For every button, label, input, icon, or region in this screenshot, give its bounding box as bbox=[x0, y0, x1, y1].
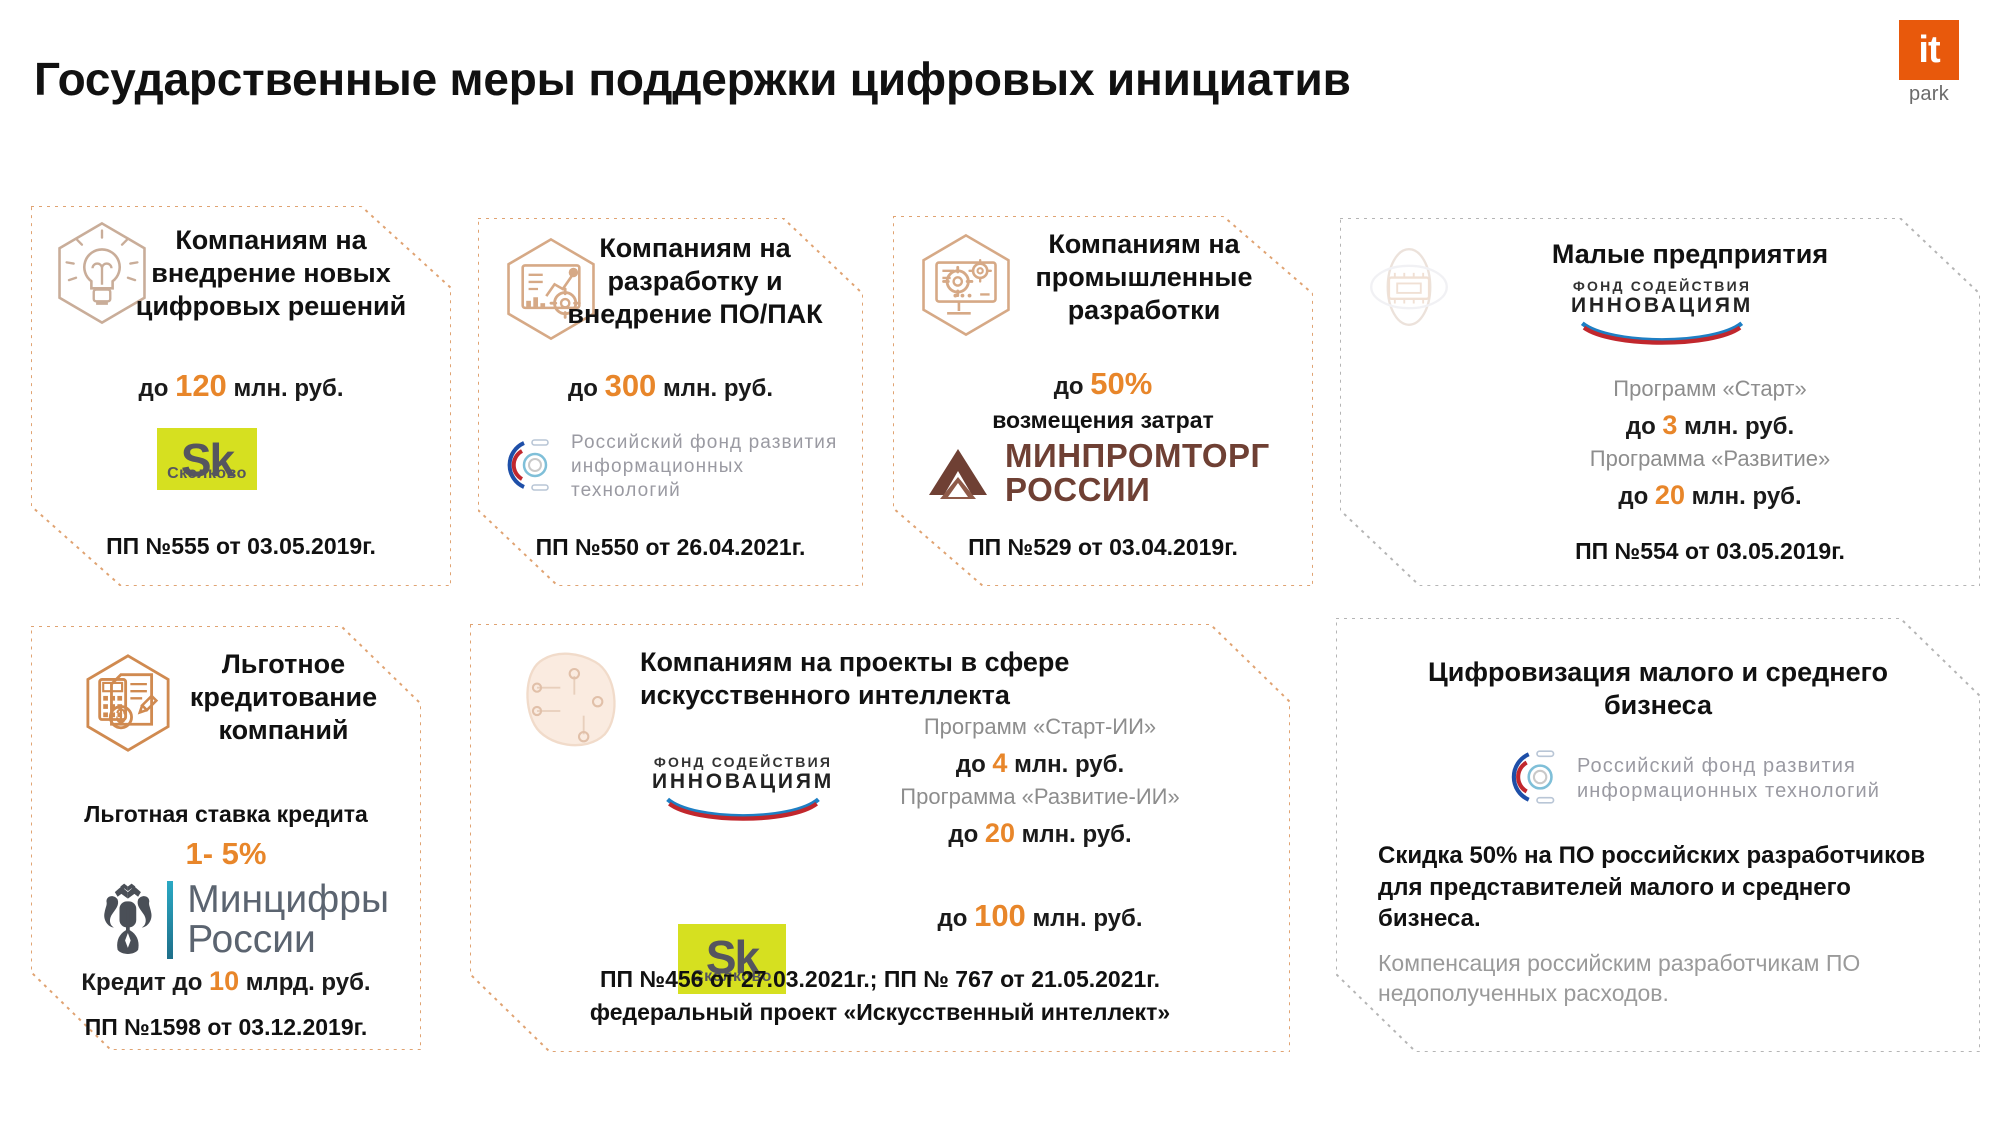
credit-suffix: млрд. руб. bbox=[246, 969, 371, 996]
card-preferential-lending[interactable]: Льготное кредитование компаний Льготная … bbox=[31, 626, 421, 1050]
card-title: Компаниям на проекты в сфере искусственн… bbox=[640, 646, 1170, 712]
minpromtorg-line1: МИНПРОМТОРГ bbox=[1005, 439, 1270, 473]
card-digital-solutions[interactable]: Компаниям на внедрение новых цифровых ре… bbox=[31, 206, 451, 586]
fsi-logo: ФОНД СОДЕЙСТВИЯ ИННОВАЦИЯМ bbox=[648, 754, 838, 824]
program-label-start-ai: Программ «Старт-ИИ» bbox=[830, 714, 1250, 740]
program-amount-start: до 3 млн. руб. bbox=[1480, 408, 1940, 443]
program-amount-razvitie: до 20 млн. руб. bbox=[1480, 478, 1940, 513]
card-body-text: Скидка 50% на ПО российских разработчико… bbox=[1378, 840, 1938, 935]
fsi-logo-swoosh bbox=[1562, 319, 1762, 345]
card-software-dev[interactable]: Компаниям на разработку и внедрение ПО/П… bbox=[478, 218, 863, 586]
atom-chip-hex-icon bbox=[1350, 228, 1468, 346]
program-label-start: Программ «Старт» bbox=[1480, 376, 1940, 402]
amount-value: 4 bbox=[992, 748, 1007, 778]
amount-value: 120 bbox=[175, 368, 227, 403]
card-title: Льготное кредитование компаний bbox=[166, 648, 401, 747]
big-amount: до 100 млн. руб. bbox=[830, 896, 1250, 936]
amount-suffix: млн. руб. bbox=[1014, 751, 1124, 778]
fsi-logo-line1: ФОНД СОДЕЙСТВИЯ bbox=[648, 754, 838, 770]
minpromtorg-line2: РОССИИ bbox=[1005, 473, 1270, 507]
amount-prefix: до bbox=[139, 375, 169, 402]
rfrit-logo-line1: Российский фонд развития bbox=[571, 431, 842, 455]
card-amount: до 50% bbox=[893, 364, 1313, 404]
amount-prefix: до bbox=[1618, 483, 1648, 510]
card-title: Компаниям на внедрение новых цифровых ре… bbox=[101, 224, 441, 323]
amount-value: 50% bbox=[1090, 366, 1152, 401]
card-footnote-line1: ПП №456 от 27.03.2021г.; ПП № 767 от 21.… bbox=[470, 964, 1290, 995]
amount-value: 300 bbox=[605, 368, 657, 403]
card-footnote-line2: федеральный проект «Искусственный интелл… bbox=[470, 997, 1290, 1028]
card-title: Компаниям на промышленные разработки bbox=[985, 228, 1303, 327]
card-title: Цифровизация малого и среднего бизнеса bbox=[1396, 656, 1920, 722]
fsi-logo-line2: ИННОВАЦИЯМ bbox=[648, 770, 838, 793]
amount-suffix: млн. руб. bbox=[1022, 821, 1132, 848]
card-amount: до 120 млн. руб. bbox=[31, 366, 451, 406]
card-title: Малые предприятия bbox=[1480, 238, 1900, 271]
itpark-logo-park-text: park bbox=[1892, 83, 1966, 106]
program-label-razvitie-ai: Программа «Развитие-ИИ» bbox=[830, 784, 1250, 810]
card-title: Компаниям на разработку и внедрение ПО/П… bbox=[534, 232, 856, 331]
fsi-logo: ФОНД СОДЕЙСТВИЯ ИННОВАЦИЯМ bbox=[1562, 278, 1762, 348]
card-footnote: ПП №550 от 26.04.2021г. bbox=[478, 532, 863, 563]
rate-value: 1- 5% bbox=[31, 834, 421, 874]
credit-amount: Кредит до 10 млрд. руб. bbox=[31, 964, 421, 999]
mincifry-logo: Минцифры России bbox=[99, 878, 389, 962]
mincifry-logo-text: Минцифры России bbox=[187, 880, 389, 960]
card-industrial-dev[interactable]: Компаниям на промышленные разработки до … bbox=[893, 216, 1313, 586]
rfrit-logo-mark bbox=[1506, 746, 1568, 813]
rfrit-logo-line2: информационных технологий bbox=[571, 455, 842, 503]
itpark-logo-it-text: it bbox=[1899, 20, 1959, 80]
card-amount: до 300 млн. руб. bbox=[478, 366, 863, 406]
rfrit-logo: Российский фонд развития информационных … bbox=[1506, 746, 1936, 812]
amount-value: 20 bbox=[1655, 480, 1685, 510]
credit-value: 10 bbox=[209, 966, 239, 996]
minpromtorg-logo: МИНПРОМТОРГ РОССИИ bbox=[923, 438, 1303, 508]
russian-coat-of-arms-icon bbox=[99, 880, 157, 960]
card-footnote: ПП №529 от 03.04.2019г. bbox=[893, 532, 1313, 563]
mincifry-line1: Минцифры bbox=[187, 880, 389, 920]
program-label-razvitie: Программа «Развитие» bbox=[1480, 446, 1940, 472]
amount-value: 3 bbox=[1662, 410, 1677, 440]
card-footnote: ПП №554 от 03.05.2019г. bbox=[1480, 536, 1940, 567]
amount-prefix: до bbox=[1054, 373, 1084, 400]
rfrit-logo-line1: Российский фонд развития bbox=[1577, 754, 1880, 779]
amount-prefix: до bbox=[938, 905, 968, 932]
card-footnote: ПП №555 от 03.05.2019г. bbox=[31, 531, 451, 562]
page-title: Государственные меры поддержки цифровых … bbox=[34, 52, 1351, 106]
amount-suffix: млн. руб. bbox=[1032, 905, 1142, 932]
amount-prefix: до bbox=[948, 821, 978, 848]
skolkovo-logo: Sk Сколково bbox=[157, 428, 257, 490]
rate-value-number: 1- 5% bbox=[186, 836, 267, 871]
card-footnote: ПП №1598 от 03.12.2019г. bbox=[31, 1012, 421, 1043]
minpromtorg-logo-mark bbox=[923, 443, 993, 503]
fsi-logo-line1: ФОНД СОДЕЙСТВИЯ bbox=[1562, 278, 1762, 294]
card-small-enterprises[interactable]: Малые предприятия ФОНД СОДЕЙСТВИЯ ИННОВА… bbox=[1340, 218, 1980, 586]
amount-value: 100 bbox=[974, 898, 1026, 933]
card-ai-projects[interactable]: Компаниям на проекты в сфере искусственн… bbox=[470, 624, 1290, 1052]
amount-suffix: млн. руб. bbox=[233, 375, 343, 402]
itpark-logo: it park bbox=[1892, 20, 1966, 112]
fsi-logo-line2: ИННОВАЦИЯМ bbox=[1562, 294, 1762, 317]
rate-label: Льготная ставка кредита bbox=[31, 800, 421, 830]
itpark-logo-mark: it bbox=[1899, 20, 1959, 80]
program-amount-start-ai: до 4 млн. руб. bbox=[830, 746, 1250, 781]
card-subnote: возмещения затрат bbox=[893, 406, 1313, 436]
program-amount-razvitie-ai: до 20 млн. руб. bbox=[830, 816, 1250, 851]
amount-prefix: до bbox=[568, 375, 598, 402]
rfrit-logo: Российский фонд развития информационных … bbox=[502, 436, 842, 498]
rfrit-logo-mark bbox=[502, 435, 562, 500]
rfrit-logo-text: Российский фонд развития информационных … bbox=[1577, 754, 1880, 804]
rfrit-logo-line2: информационных технологий bbox=[1577, 779, 1880, 804]
amount-suffix: млн. руб. bbox=[663, 375, 773, 402]
amount-value: 20 bbox=[985, 818, 1015, 848]
mincifry-line2: России bbox=[187, 920, 389, 960]
amount-suffix: млн. руб. bbox=[1684, 413, 1794, 440]
skolkovo-logo-word: Сколково bbox=[157, 465, 257, 483]
fsi-logo-swoosh bbox=[648, 795, 838, 821]
card-sme-digitalization[interactable]: Цифровизация малого и среднего бизнеса Р… bbox=[1336, 618, 1980, 1052]
neural-blob-icon bbox=[502, 634, 642, 774]
amount-prefix: до bbox=[956, 751, 986, 778]
rfrit-logo-text: Российский фонд развития информационных … bbox=[571, 431, 842, 502]
minpromtorg-logo-text: МИНПРОМТОРГ РОССИИ bbox=[1005, 439, 1270, 508]
amount-prefix: до bbox=[1626, 413, 1656, 440]
amount-suffix: млн. руб. bbox=[1692, 483, 1802, 510]
mincifry-logo-divider bbox=[167, 881, 174, 959]
card-body-muted-text: Компенсация российским разработчикам ПО … bbox=[1378, 948, 1938, 1009]
credit-prefix: Кредит до bbox=[81, 969, 202, 996]
